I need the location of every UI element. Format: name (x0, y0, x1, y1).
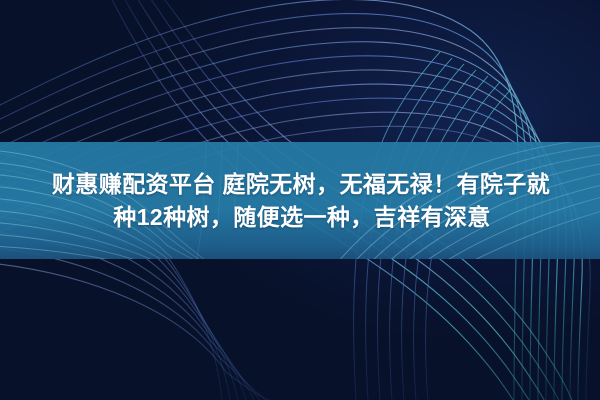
headline-line-2: 种12种树，随便选一种，吉祥有深意 (109, 202, 490, 232)
promo-banner: 财惠赚配资平台 庭院无树，无福无禄！有院子就 种12种树，随便选一种，吉祥有深意 (0, 0, 600, 400)
headline-line-1: 财惠赚配资平台 庭院无树，无福无禄！有院子就 (50, 169, 550, 199)
headline-band: 财惠赚配资平台 庭院无树，无福无禄！有院子就 种12种树，随便选一种，吉祥有深意 (0, 142, 600, 259)
headline-text-block: 财惠赚配资平台 庭院无树，无福无禄！有院子就 种12种树，随便选一种，吉祥有深意 (0, 142, 600, 259)
